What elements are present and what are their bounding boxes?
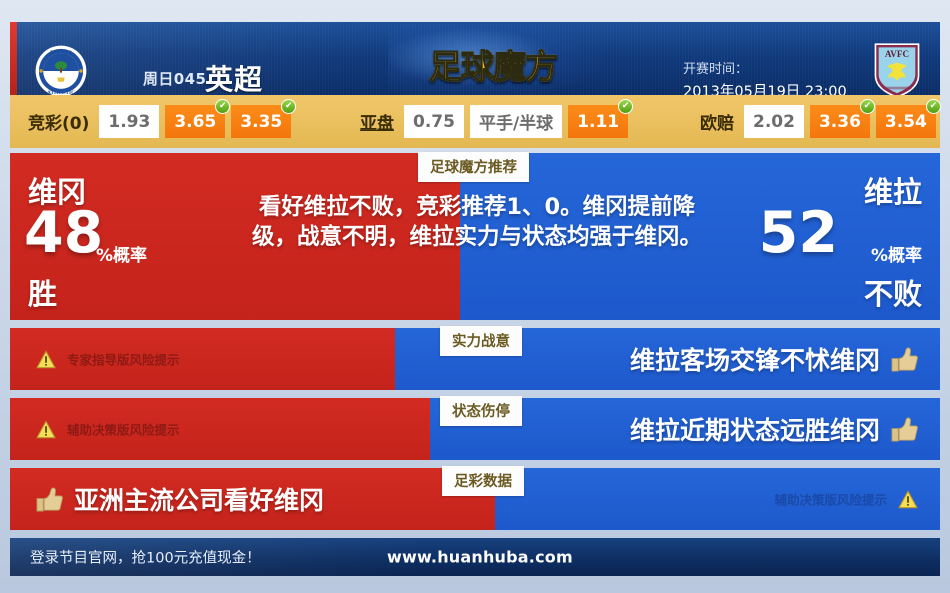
header-red-accent	[10, 22, 17, 95]
aston-villa-crest-icon: AVFC	[872, 42, 922, 95]
footer-bar: 登录节目官网，抢100元充值现金！ www.huanhuba.com	[10, 538, 940, 576]
home-probability-value: 48	[24, 205, 103, 262]
brand-logo-text: 足球魔方	[408, 40, 578, 88]
main-prediction-panel: 维冈 48 %概率 胜 维拉 52 %概率 不败 足球魔方推荐 看好维拉不败，竞…	[10, 153, 940, 320]
kickoff-label: 开赛时间：	[683, 58, 748, 77]
odds-group-jingcai: 竞彩(0)1.933.65✔3.35✔	[28, 95, 291, 148]
odds-cell[interactable]: 平手/半球	[470, 105, 562, 138]
odds-cell[interactable]: 0.75	[404, 105, 464, 138]
prediction-card: WIGAN ATHLETIC AVFC 周日045 英超 足球魔方 开赛时间： …	[0, 0, 950, 593]
warning-triangle-icon	[898, 490, 918, 508]
risk-note: 专家指导版风险提示	[36, 350, 180, 369]
tab-strength[interactable]: 实力战意	[440, 326, 522, 356]
odds-group-title: 欧赔	[700, 109, 734, 134]
odds-cell[interactable]: 3.36✔	[810, 105, 870, 138]
verdict-text: 维拉近期状态远胜维冈	[630, 411, 880, 447]
away-probability-suffix: %概率	[871, 241, 922, 266]
warning-triangle-icon	[36, 420, 56, 438]
away-outcome-label: 不败	[864, 271, 922, 313]
match-header: WIGAN ATHLETIC AVFC 周日045 英超 足球魔方 开赛时间： …	[10, 22, 940, 95]
comparison-row: 辅助决策版风险提示亚洲主流公司看好维冈足彩数据	[10, 468, 940, 530]
odds-group-title: 竞彩(0)	[28, 109, 89, 134]
comparison-row: 辅助决策版风险提示维拉近期状态远胜维冈状态伤停	[10, 398, 940, 460]
odds-cell[interactable]: 3.35✔	[231, 105, 291, 138]
tab-data[interactable]: 足彩数据	[442, 466, 524, 496]
home-probability-suffix: %概率	[96, 241, 147, 266]
thumbs-up-icon	[891, 417, 918, 442]
verdict-statement: 亚洲主流公司看好维冈	[36, 481, 324, 517]
odds-cell[interactable]: 3.54✔	[876, 105, 936, 138]
risk-note-text: 辅助决策版风险提示	[774, 490, 887, 509]
thumbs-up-icon	[36, 487, 63, 512]
check-badge-icon: ✔	[618, 99, 633, 114]
recommendation-text: 看好维拉不败，竞彩推荐1、0。维冈提前降级，战意不明，维拉实力与状态均强于维冈。	[242, 193, 712, 253]
comparison-row: 专家指导版风险提示维拉客场交锋不怵维冈实力战意	[10, 328, 940, 390]
tab-recommendation[interactable]: 足球魔方推荐	[418, 152, 529, 182]
thumbs-up-icon	[891, 347, 918, 372]
odds-cell[interactable]: 1.93	[99, 105, 159, 138]
wigan-athletic-crest-icon: WIGAN ATHLETIC	[34, 44, 88, 95]
risk-note-text: 专家指导版风险提示	[67, 350, 180, 369]
warning-triangle-icon	[36, 350, 56, 368]
verdict-statement: 维拉客场交锋不怵维冈	[630, 341, 918, 377]
odds-cell[interactable]: 3.65✔	[165, 105, 225, 138]
match-league: 英超	[205, 58, 263, 95]
verdict-text: 亚洲主流公司看好维冈	[74, 481, 324, 517]
home-outcome-label: 胜	[28, 271, 57, 313]
odds-cell[interactable]: 2.02	[744, 105, 804, 138]
away-team-name: 维拉	[864, 169, 922, 211]
odds-group-title: 亚盘	[360, 109, 394, 134]
promo-text: 登录节目官网，抢100元充值现金！	[30, 547, 261, 568]
tab-form[interactable]: 状态伤停	[440, 396, 522, 426]
odds-cell[interactable]: 1.11✔	[568, 105, 628, 138]
risk-note: 辅助决策版风险提示	[36, 420, 180, 439]
check-badge-icon: ✔	[281, 99, 296, 114]
away-probability-value: 52	[759, 205, 838, 262]
odds-group-oupei: 欧赔2.023.36✔3.54✔	[700, 95, 936, 148]
odds-group-yapan: 亚盘0.75平手/半球1.11✔	[360, 95, 628, 148]
risk-note: 辅助决策版风险提示	[774, 490, 918, 509]
verdict-statement: 维拉近期状态远胜维冈	[630, 411, 918, 447]
svg-text:AVFC: AVFC	[885, 49, 909, 59]
site-url[interactable]: www.huanhuba.com	[387, 548, 573, 567]
check-badge-icon: ✔	[926, 99, 941, 114]
odds-bar: 竞彩(0)1.933.65✔3.35✔ 亚盘0.75平手/半球1.11✔ 欧赔2…	[10, 95, 940, 148]
verdict-text: 维拉客场交锋不怵维冈	[630, 341, 880, 377]
kickoff-time: 2013年05月19日 23:00	[683, 80, 847, 95]
check-badge-icon: ✔	[860, 99, 875, 114]
risk-note-text: 辅助决策版风险提示	[67, 420, 180, 439]
match-round: 周日045	[143, 68, 206, 89]
check-badge-icon: ✔	[215, 99, 230, 114]
brand-logo: 足球魔方	[408, 36, 578, 88]
svg-text:WIGAN: WIGAN	[50, 50, 72, 56]
